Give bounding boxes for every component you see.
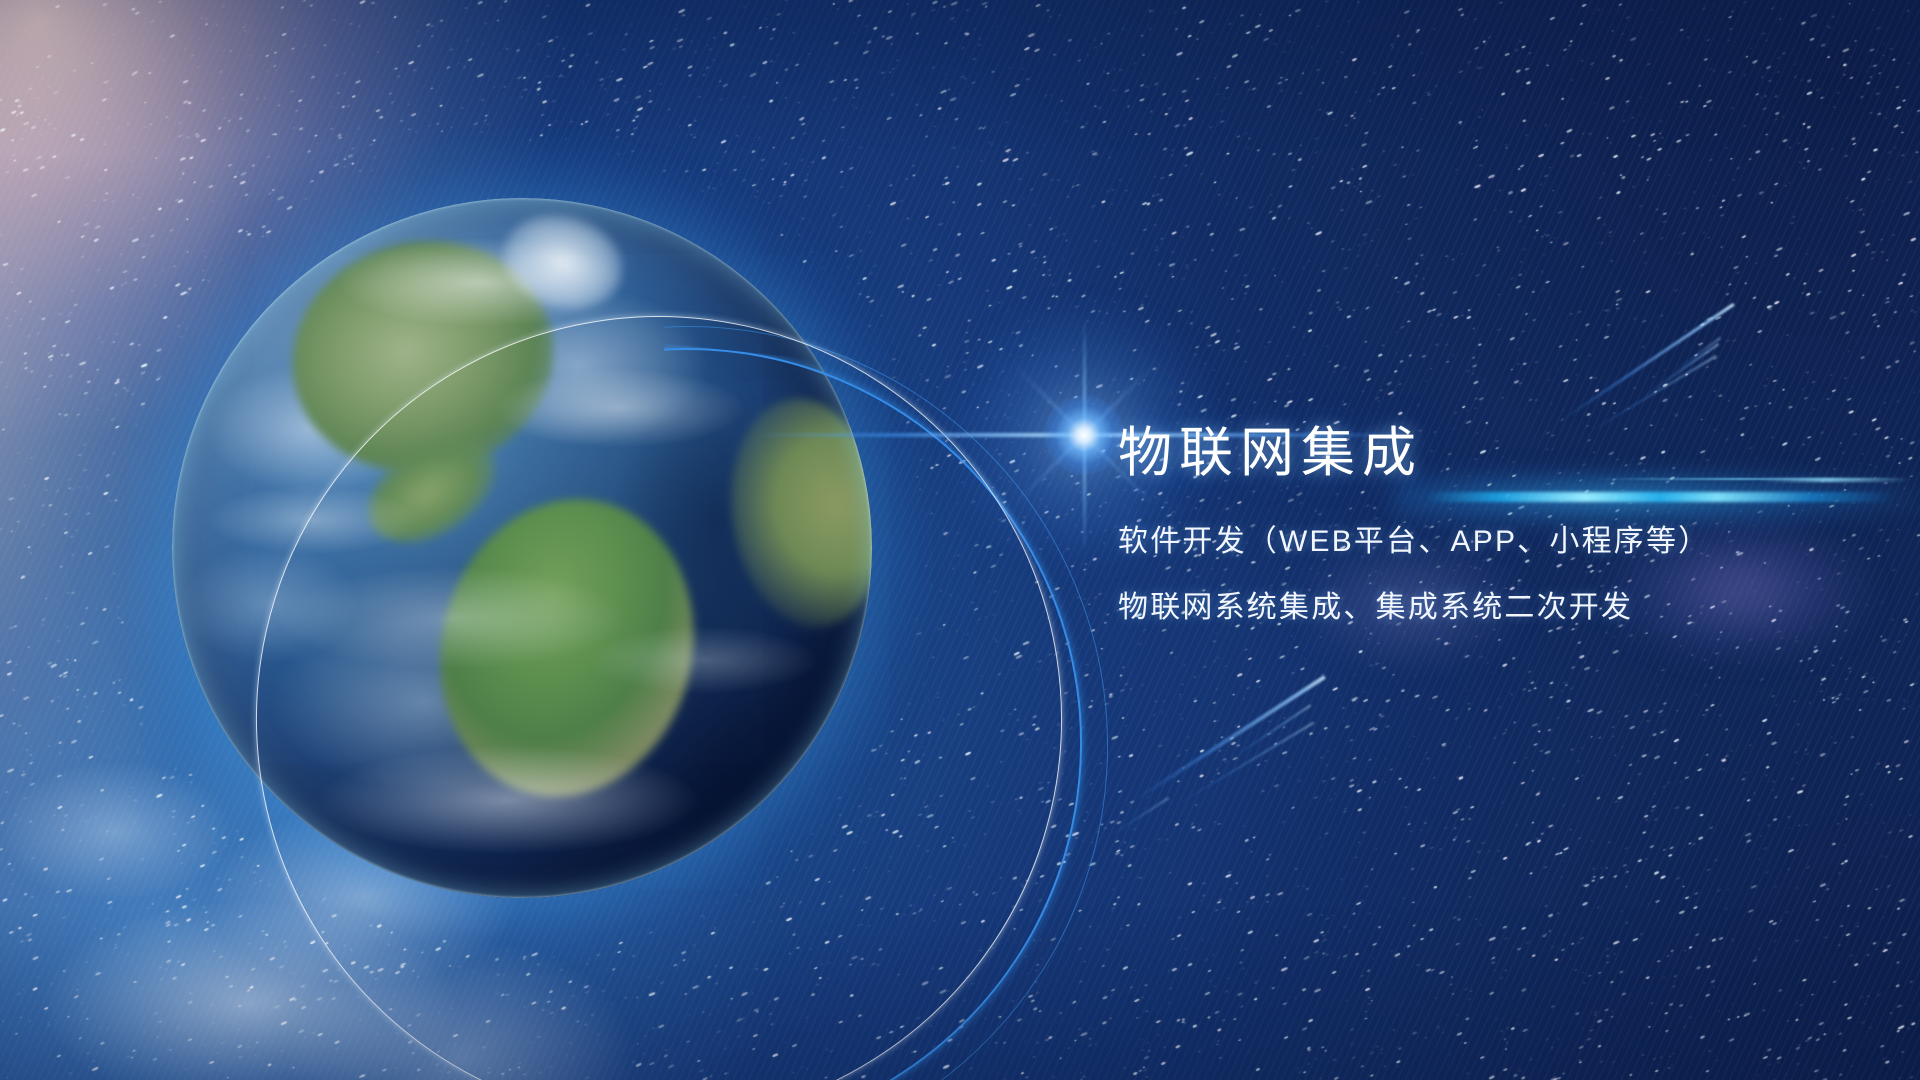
earth-globe xyxy=(172,198,872,898)
page-title: 物联网集成 xyxy=(1118,424,1878,482)
hero-text-block: 物联网集成 软件开发（WEB平台、APP、小程序等） 物联网系统集成、集成系统二… xyxy=(1118,424,1878,626)
comet-streak xyxy=(1559,303,1735,423)
comet-streak xyxy=(1169,722,1314,810)
comet-streak xyxy=(1227,704,1311,762)
comet-streak xyxy=(1639,343,1719,400)
comet-streak xyxy=(1110,797,1170,836)
hero-subtitle-2: 物联网系统集成、集成系统二次开发 xyxy=(1118,582,1878,626)
comet-streak xyxy=(1587,355,1717,434)
comet-streak xyxy=(1672,337,1721,374)
hero-banner: 物联网集成 软件开发（WEB平台、APP、小程序等） 物联网系统集成、集成系统二… xyxy=(0,0,1920,1080)
comet-streak xyxy=(1131,675,1326,803)
hero-subtitle-1: 软件开发（WEB平台、APP、小程序等） xyxy=(1118,516,1878,560)
lens-flare-star-icon xyxy=(1084,435,1086,437)
